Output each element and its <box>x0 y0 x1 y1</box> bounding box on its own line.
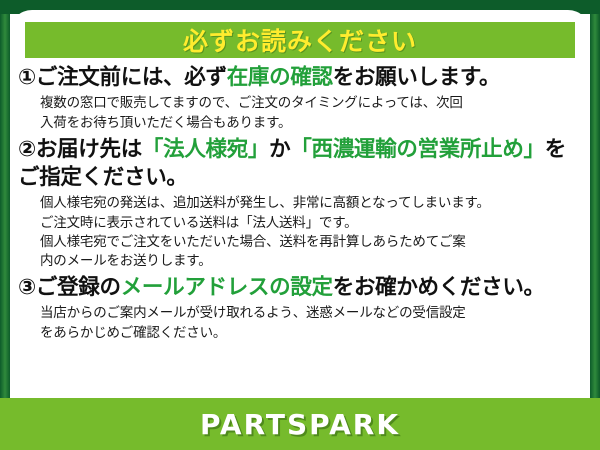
notice-description-line: ご注文時に表示されている送料は「法人送料」です。 <box>40 214 582 233</box>
notice-item-heading: ①ご注文前には、必ず在庫の確認をお願いします。 <box>18 64 582 92</box>
notice-description-line: をあらかじめご確認ください。 <box>40 324 582 343</box>
notice-item-heading: ②お届け先は「法人様宛」か「西濃運輸の営業所止め」をご指定ください。 <box>18 136 582 193</box>
notice-item: ③ご登録のメールアドレスの設定をお確かめください。当店からのご案内メールが受け取… <box>18 274 582 343</box>
notice-description-line: 個人様宅宛でご注文をいただいた場合、送料を再計算しあらためてご案 <box>40 233 582 252</box>
notice-item-heading: ③ご登録のメールアドレスの設定をお確かめください。 <box>18 274 582 302</box>
notice-title-bar: 必ずお読みください <box>25 22 575 58</box>
brand-name: PARTSPARK <box>200 408 400 441</box>
notice-plain-text: お届け先は <box>36 137 142 162</box>
notice-plain-text: ご注文前には、必ず <box>36 65 227 90</box>
notice-plain-text: ご登録の <box>36 275 121 300</box>
notice-description-line: 個人様宅宛の発送は、追加送料が発生し、非常に高額となってしまいます。 <box>40 194 582 213</box>
notice-banner: 必ずお読みください ①ご注文前には、必ず在庫の確認をお願いします。複数の窓口で販… <box>0 0 600 450</box>
notice-item-marker: ③ <box>18 275 36 300</box>
notice-title: 必ずお読みください <box>183 22 417 58</box>
notice-item-marker: ① <box>18 65 36 90</box>
notice-highlight-text: 「法人様宛」 <box>142 137 269 162</box>
notice-body: ①ご注文前には、必ず在庫の確認をお願いします。複数の窓口で販売してますので、ご注… <box>18 64 582 346</box>
brand-footer: PARTSPARK <box>0 398 600 450</box>
notice-item: ①ご注文前には、必ず在庫の確認をお願いします。複数の窓口で販売してますので、ご注… <box>18 64 582 133</box>
notice-highlight-text: 在庫の確認 <box>227 65 333 90</box>
notice-description-line: 内のメールをお送りします。 <box>40 252 582 271</box>
notice-item-description: 個人様宅宛の発送は、追加送料が発生し、非常に高額となってしまいます。ご注文時に表… <box>40 194 582 271</box>
notice-item: ②お届け先は「法人様宛」か「西濃運輸の営業所止め」をご指定ください。個人様宅宛の… <box>18 136 582 271</box>
notice-item-description: 当店からのご案内メールが受け取れるよう、迷惑メールなどの受信設定をあらかじめご確… <box>40 304 582 342</box>
notice-highlight-text: メールアドレスの設定 <box>121 275 333 300</box>
notice-item-description: 複数の窓口で販売してますので、ご注文のタイミングによっては、次回入荷をお待ち頂い… <box>40 94 582 132</box>
notice-description-line: 当店からのご案内メールが受け取れるよう、迷惑メールなどの受信設定 <box>40 304 582 323</box>
notice-plain-text: をお確かめください。 <box>333 275 545 300</box>
notice-plain-text: をお願いします。 <box>333 65 500 90</box>
notice-description-line: 複数の窓口で販売してますので、ご注文のタイミングによっては、次回 <box>40 94 582 113</box>
notice-description-line: 入荷をお待ち頂いただく場合もあります。 <box>40 114 582 133</box>
notice-item-marker: ② <box>18 137 36 162</box>
notice-paper: 必ずお読みください ①ご注文前には、必ず在庫の確認をお願いします。複数の窓口で販… <box>10 10 590 450</box>
notice-highlight-text: 「西濃運輸の営業所止め」 <box>290 137 544 162</box>
notice-plain-text: か <box>269 137 290 162</box>
